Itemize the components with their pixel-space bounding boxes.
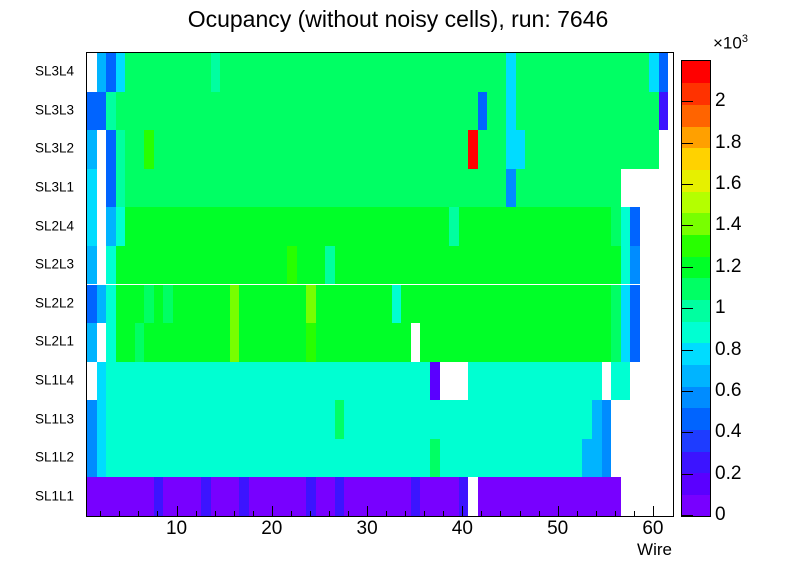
- palette-tick-label: 1.4: [715, 214, 741, 236]
- x-axis-tick-label: 40: [452, 518, 473, 540]
- x-axis-minor-tick: [596, 511, 597, 517]
- palette-tick: [681, 143, 693, 144]
- x-axis-tick-label: 20: [261, 518, 282, 540]
- x-axis-tick-label: 30: [357, 518, 378, 540]
- palette-tick: [681, 391, 693, 392]
- y-axis-label-sl1l1: SL1L1: [35, 488, 74, 503]
- x-axis-minor-tick: [157, 511, 158, 517]
- y-axis-label-sl1l2: SL1L2: [35, 450, 74, 465]
- palette-tick: [681, 350, 693, 351]
- x-axis-tick-label: 50: [547, 518, 568, 540]
- palette-tick-label: 1.2: [715, 256, 741, 278]
- palette-tick: [681, 225, 693, 226]
- x-axis-major-tick: [272, 506, 273, 517]
- x-axis-minor-tick: [520, 511, 521, 517]
- palette-tick-label: 1.6: [715, 173, 741, 195]
- palette-exponent-base: ×10: [713, 34, 742, 53]
- palette-tick: [681, 432, 693, 433]
- x-axis-minor-tick: [424, 511, 425, 517]
- y-axis-label-sl3l1: SL3L1: [35, 180, 74, 195]
- palette-tick-label: 0.6: [715, 380, 741, 402]
- x-axis-minor-tick: [443, 511, 444, 517]
- palette-axis-ticks: 00.20.40.60.811.21.41.61.82: [681, 60, 721, 517]
- x-axis-minor-tick: [386, 511, 387, 517]
- y-axis-label-sl3l4: SL3L4: [35, 64, 74, 79]
- y-axis-label-sl3l2: SL3L2: [35, 141, 74, 156]
- palette-tick-label: 1.8: [715, 132, 741, 154]
- x-axis-major-tick: [653, 506, 654, 517]
- x-axis-major-tick: [367, 506, 368, 517]
- x-axis-major-tick: [462, 506, 463, 517]
- x-axis-minor-tick: [329, 511, 330, 517]
- x-axis: [86, 52, 672, 517]
- palette-tick: [681, 515, 693, 516]
- x-axis-minor-tick: [138, 511, 139, 517]
- x-axis-minor-tick: [615, 511, 616, 517]
- palette-tick-label: 1: [715, 297, 726, 319]
- y-axis-label-sl2l3: SL2L3: [35, 257, 74, 272]
- palette-exponent-label: ×103: [713, 33, 748, 54]
- palette-tick: [681, 267, 693, 268]
- x-axis-major-tick: [177, 506, 178, 517]
- y-axis-label-sl2l2: SL2L2: [35, 295, 74, 310]
- y-axis-label-sl1l3: SL1L3: [35, 411, 74, 426]
- x-axis-minor-tick: [119, 511, 120, 517]
- y-axis-labels: SL3L4SL3L3SL3L2SL3L1SL2L4SL2L3SL2L2SL2L1…: [0, 0, 82, 572]
- y-axis-label-sl3l3: SL3L3: [35, 102, 74, 117]
- x-axis-minor-tick: [253, 511, 254, 517]
- y-axis-label-sl1l4: SL1L4: [35, 372, 74, 387]
- x-axis-tick-label: 60: [642, 518, 663, 540]
- root-canvas: Ocupancy (without noisy cells), run: 764…: [0, 0, 796, 572]
- x-axis-minor-tick: [577, 511, 578, 517]
- palette-tick: [681, 474, 693, 475]
- x-axis-title: Wire: [637, 540, 672, 560]
- x-axis-tick-label: 10: [166, 518, 187, 540]
- x-axis-minor-tick: [234, 511, 235, 517]
- palette-tick-label: 0.8: [715, 339, 741, 361]
- x-axis-minor-tick: [405, 511, 406, 517]
- palette-tick: [681, 184, 693, 185]
- palette-tick-label: 2: [715, 90, 726, 112]
- x-axis-minor-tick: [539, 511, 540, 517]
- page-title: Ocupancy (without noisy cells), run: 764…: [0, 6, 796, 33]
- x-axis-minor-tick: [310, 511, 311, 517]
- palette-tick-label: 0.4: [715, 421, 741, 443]
- x-axis-minor-tick: [500, 511, 501, 517]
- palette-tick: [681, 101, 693, 102]
- palette-tick-label: 0: [715, 504, 726, 526]
- palette-tick: [681, 308, 693, 309]
- palette-tick-label: 0.2: [715, 463, 741, 485]
- x-axis-major-tick: [558, 506, 559, 517]
- y-axis-label-sl2l1: SL2L1: [35, 334, 74, 349]
- x-axis-minor-tick: [634, 511, 635, 517]
- y-axis-label-sl2l4: SL2L4: [35, 218, 74, 233]
- x-axis-minor-tick: [196, 511, 197, 517]
- x-axis-minor-tick: [215, 511, 216, 517]
- x-axis-minor-tick: [481, 511, 482, 517]
- x-axis-minor-tick: [291, 511, 292, 517]
- palette-exponent-power: 3: [742, 33, 748, 45]
- x-axis-minor-tick: [100, 511, 101, 517]
- x-axis-minor-tick: [348, 511, 349, 517]
